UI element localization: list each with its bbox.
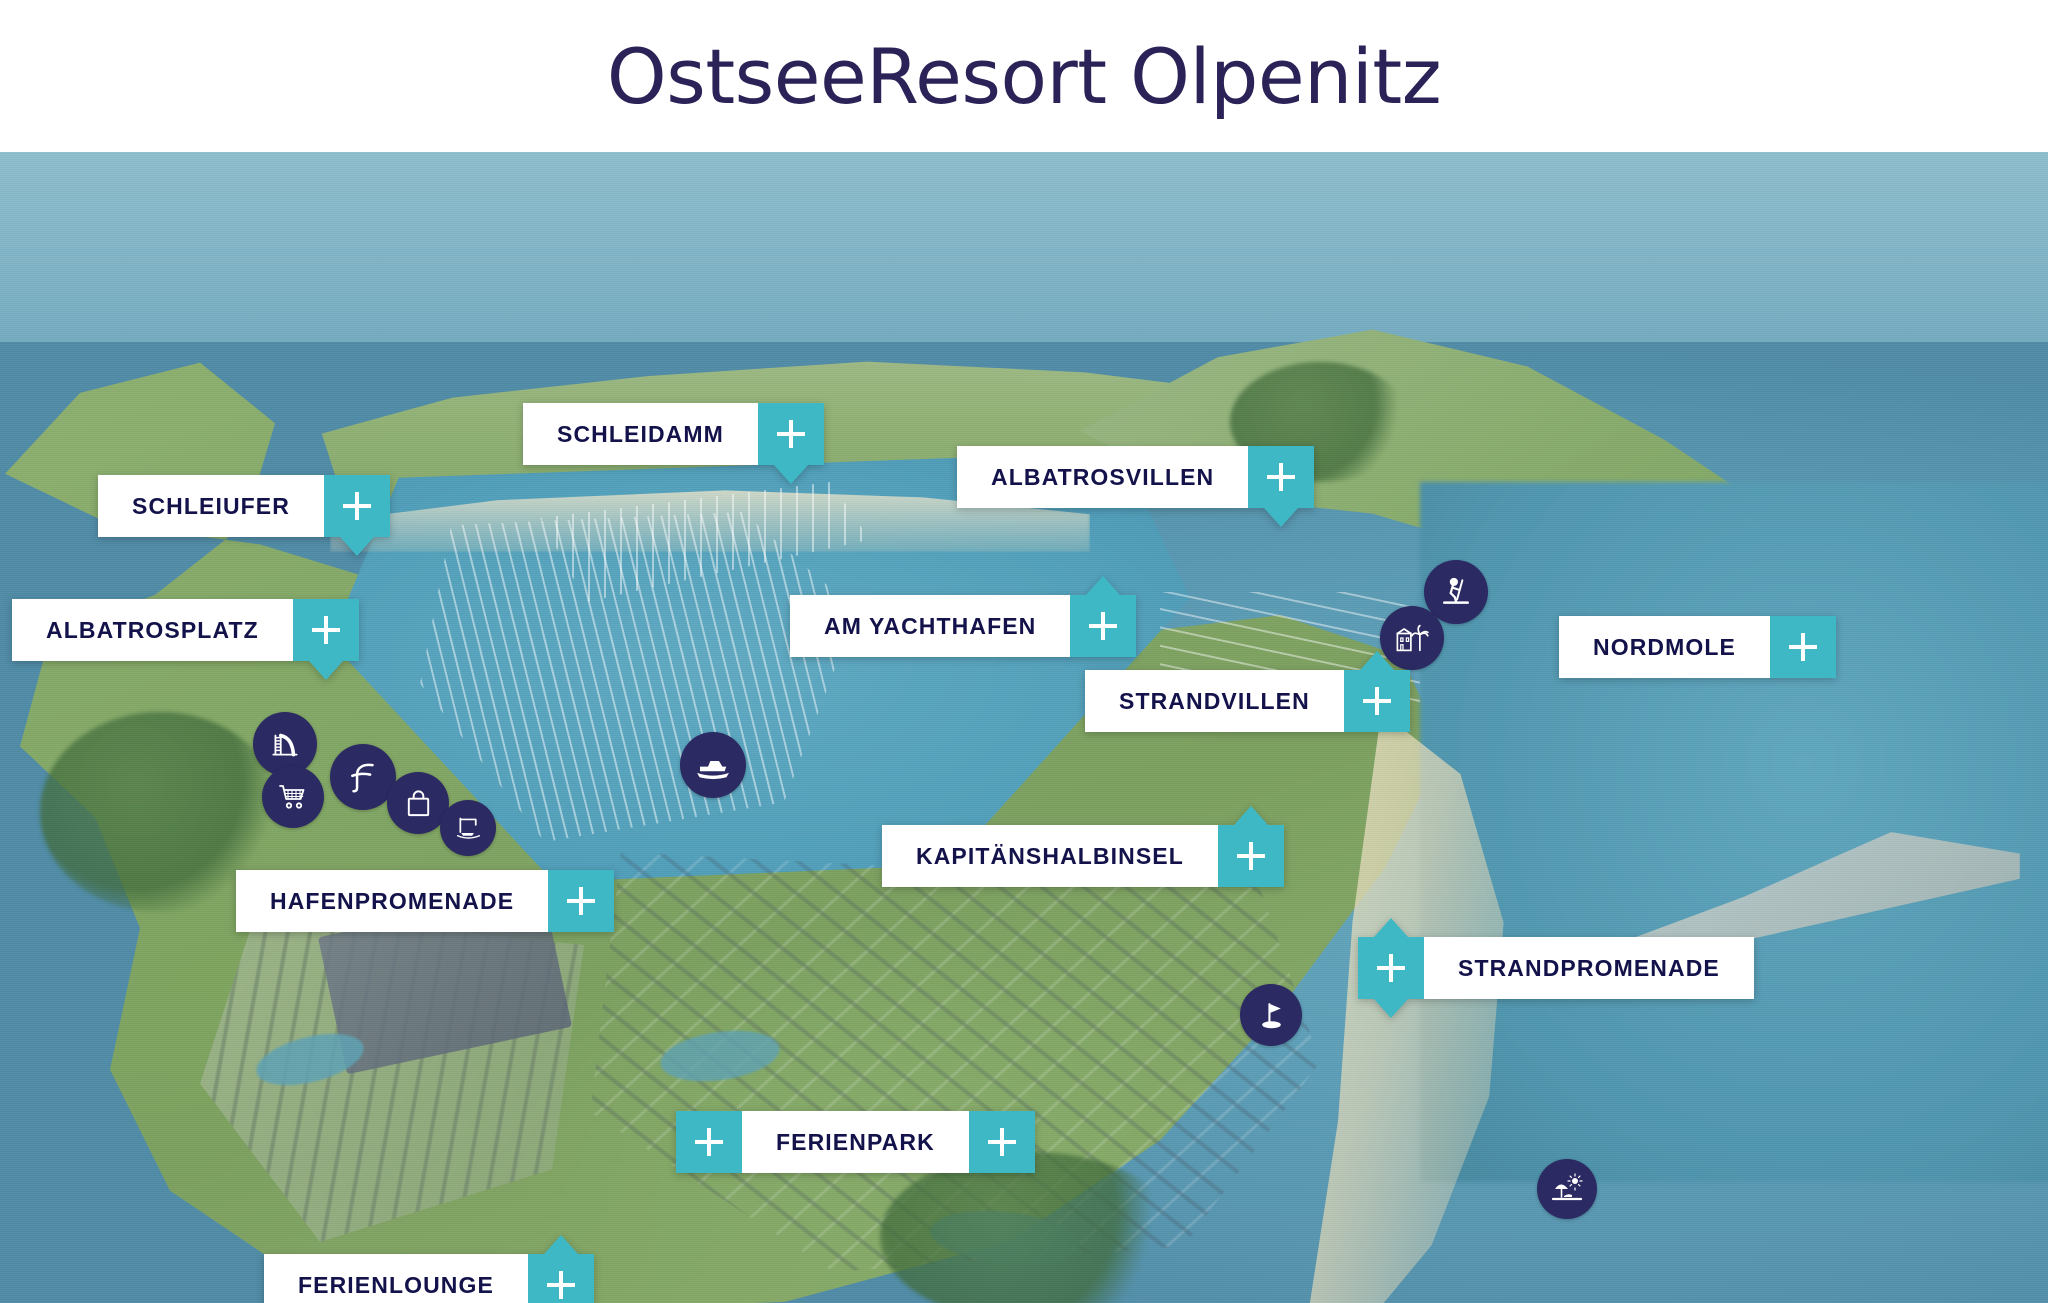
map-label-ferienlounge[interactable]: FERIENLOUNGE	[264, 1254, 594, 1303]
shopping-cart-icon	[277, 781, 309, 813]
marker-shopping[interactable]	[262, 766, 324, 828]
map-label-strandvillen[interactable]: STRANDVILLEN	[1085, 670, 1410, 732]
map-label-schleidamm-text: SCHLEIDAMM	[523, 403, 758, 465]
water-slide-icon	[268, 727, 302, 761]
pointer-down-icon	[1374, 999, 1408, 1018]
map-label-strandpromenade[interactable]: STRANDPROMENADE	[1358, 937, 1754, 999]
marker-boat-lift[interactable]	[440, 800, 496, 856]
map-label-schleiufer-text: SCHLEIUFER	[98, 475, 324, 537]
pointer-up-icon	[1086, 576, 1120, 595]
page-title: OstseeResort Olpenitz	[0, 0, 2048, 152]
map-label-ferienlounge-text: FERIENLOUNGE	[264, 1254, 528, 1303]
map-label-strandpromenade-text: STRANDPROMENADE	[1424, 937, 1754, 999]
marker-golf[interactable]	[1240, 984, 1302, 1046]
map-label-hafenpromenade-plus-button[interactable]	[548, 870, 614, 932]
map-label-kapitaenshalbinsel-text: KAPITÄNSHALBINSEL	[882, 825, 1218, 887]
f-logo-icon	[344, 758, 382, 796]
map-label-albatrosplatz-text: ALBATROSPLATZ	[12, 599, 293, 661]
map-label-strandpromenade-plus-button[interactable]	[1358, 937, 1424, 999]
beach-umbrella-icon	[1551, 1173, 1583, 1205]
marker-yacht[interactable]	[680, 732, 746, 798]
pointer-down-icon	[340, 537, 374, 556]
map-label-schleidamm[interactable]: SCHLEIDAMM	[523, 403, 824, 465]
marker-beach[interactable]	[1537, 1159, 1597, 1219]
map-label-albatrosplatz[interactable]: ALBATROSPLATZ	[12, 599, 359, 661]
map-label-schleiufer-plus-button[interactable]	[324, 475, 390, 537]
resort-map[interactable]: SCHLEIDAMM SCHLEIUFER ALBATROSVILLEN ALB…	[0, 152, 2048, 1303]
map-label-albatrosplatz-plus-button[interactable]	[293, 599, 359, 661]
map-label-strandvillen-text: STRANDVILLEN	[1085, 670, 1344, 732]
resort-palm-icon	[1394, 620, 1430, 656]
map-label-ferienpark[interactable]: FERIENPARK	[676, 1111, 1035, 1173]
shopping-bag-icon	[403, 788, 434, 819]
map-label-kapitaenshalbinsel[interactable]: KAPITÄNSHALBINSEL	[882, 825, 1284, 887]
map-baltic-sea	[1420, 482, 2048, 1182]
pointer-up-icon	[544, 1235, 578, 1254]
map-label-strandvillen-plus-button[interactable]	[1344, 670, 1410, 732]
map-label-albatrosvillen-plus-button[interactable]	[1248, 446, 1314, 508]
map-label-ferienpark-plus-button-left[interactable]	[676, 1111, 742, 1173]
map-label-schleiufer[interactable]: SCHLEIUFER	[98, 475, 390, 537]
pointer-up-icon	[1360, 651, 1394, 670]
golf-flag-icon	[1255, 999, 1288, 1032]
pointer-up-icon	[1234, 806, 1268, 825]
map-label-nordmole[interactable]: NORDMOLE	[1559, 616, 1836, 678]
map-label-am-yachthafen-text: AM YACHTHAFEN	[790, 595, 1070, 657]
yacht-icon	[695, 747, 731, 783]
map-label-am-yachthafen-plus-button[interactable]	[1070, 595, 1136, 657]
map-label-hafenpromenade[interactable]: HAFENPROMENADE	[236, 870, 614, 932]
boat-lift-icon	[454, 814, 483, 843]
map-label-albatrosvillen[interactable]: ALBATROSVILLEN	[957, 446, 1314, 508]
map-label-nordmole-text: NORDMOLE	[1559, 616, 1770, 678]
map-label-am-yachthafen[interactable]: AM YACHTHAFEN	[790, 595, 1136, 657]
map-label-albatrosvillen-text: ALBATROSVILLEN	[957, 446, 1248, 508]
pointer-up-icon	[1374, 918, 1408, 937]
pointer-down-icon	[1264, 508, 1298, 527]
map-label-ferienpark-text: FERIENPARK	[742, 1111, 969, 1173]
paddleboard-icon	[1439, 575, 1473, 609]
map-label-hafenpromenade-text: HAFENPROMENADE	[236, 870, 548, 932]
pointer-down-icon	[774, 465, 808, 484]
map-label-schleidamm-plus-button[interactable]	[758, 403, 824, 465]
pointer-down-icon	[309, 661, 343, 680]
map-label-ferienpark-plus-button-right[interactable]	[969, 1111, 1035, 1173]
map-label-nordmole-plus-button[interactable]	[1770, 616, 1836, 678]
map-label-kapitaenshalbinsel-plus-button[interactable]	[1218, 825, 1284, 887]
map-label-ferienlounge-plus-button[interactable]	[528, 1254, 594, 1303]
map-horizon-sea	[0, 152, 2048, 342]
